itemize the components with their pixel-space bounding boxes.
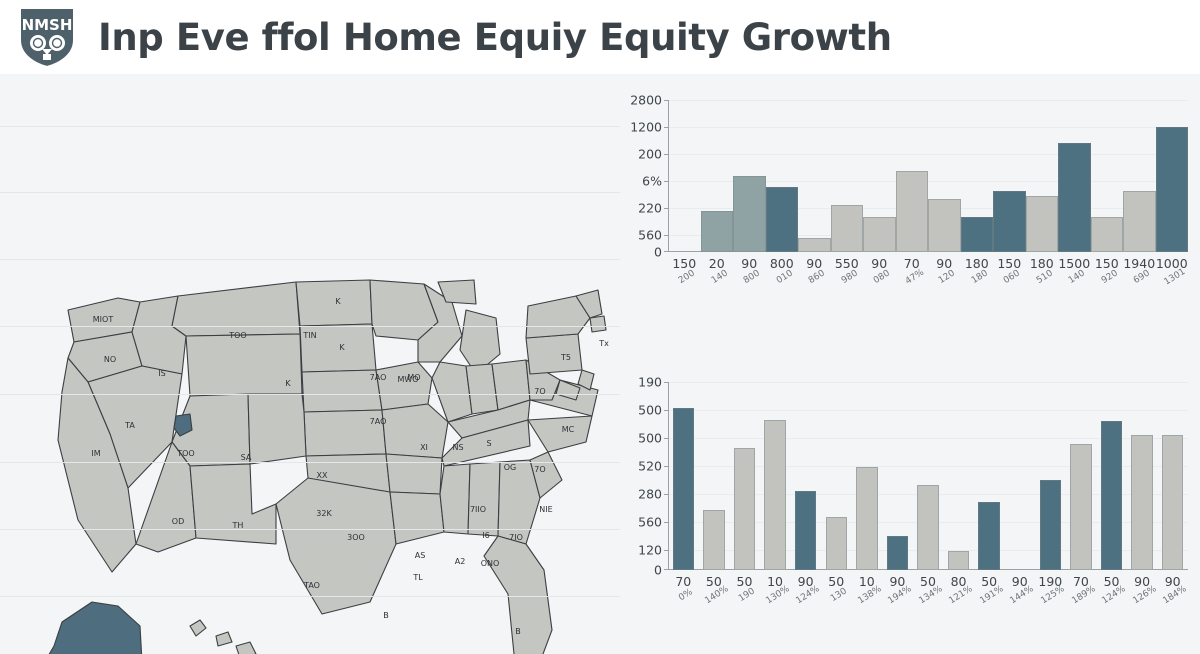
x-tick: 90120	[928, 256, 961, 283]
x-tick: 700%	[668, 574, 699, 601]
state-label: IS	[158, 369, 165, 378]
y-tick-label: 500	[638, 403, 662, 418]
bar[interactable]	[1156, 127, 1189, 252]
us-map-panel[interactable]: MIOT NO IS TOO TIN K K K 7AO TOO TA IM O…	[0, 74, 620, 654]
x-tick: 90800	[733, 256, 766, 283]
y-tick-label: 120	[638, 543, 662, 558]
bar[interactable]	[1040, 480, 1061, 570]
bar[interactable]	[856, 467, 877, 570]
page-title: Inp Eve ffol Home Equiy Equity Growth	[98, 16, 892, 59]
state-label: 7AO	[370, 417, 387, 426]
y-tick-label: 2800	[630, 93, 662, 108]
state-label: NIE	[539, 505, 552, 514]
y-tick-label: 560	[638, 228, 662, 243]
bar[interactable]	[734, 448, 755, 570]
state-label: SA	[241, 453, 252, 462]
state-label: 7O	[534, 387, 545, 396]
state-label: Tx	[598, 339, 609, 348]
x-tick: 90860	[798, 256, 831, 283]
state-label: MIOT	[93, 315, 114, 324]
us-states-map: MIOT NO IS TOO TIN K K K 7AO TOO TA IM O…	[0, 74, 620, 654]
state-label: OG	[504, 463, 517, 472]
x-tick: 90194%	[882, 574, 913, 601]
bottom-chart-y-axis: 190 500 500 520 280 560 120 0	[620, 374, 662, 646]
x-tick: 150060	[993, 256, 1026, 283]
x-tick: 800010	[766, 256, 799, 283]
y-tick-label: 220	[638, 201, 662, 216]
state-label: IM	[91, 449, 100, 458]
bar[interactable]	[1070, 444, 1091, 570]
state-label: XX	[317, 471, 328, 480]
bar[interactable]	[928, 199, 961, 252]
x-tick: 90126%	[1127, 574, 1158, 601]
x-tick: 50191%	[974, 574, 1005, 601]
state-label: TOO	[176, 449, 194, 458]
bar[interactable]	[1162, 435, 1183, 570]
x-tick: 550980	[831, 256, 864, 283]
y-tick-label: 280	[638, 487, 662, 502]
bar[interactable]	[1131, 435, 1152, 570]
dashboard-content: MIOT NO IS TOO TIN K K K 7AO TOO TA IM O…	[0, 74, 1200, 654]
x-tick: 50190	[729, 574, 760, 601]
y-tick-label: 0	[654, 245, 662, 260]
bar[interactable]	[887, 536, 908, 570]
y-tick-label: 200	[638, 147, 662, 162]
state-label: T5	[560, 353, 571, 362]
bottom-chart-axis-area	[668, 382, 1188, 570]
state-label: 7IO	[509, 533, 523, 542]
bottom-chart-plot: 190 500 500 520 280 560 120 0	[620, 374, 1200, 646]
x-tick: 10001301	[1156, 256, 1189, 283]
x-tick: 190125%	[1035, 574, 1066, 601]
top-chart-y-axis: 2800 1200 200 6% 220 560 0	[620, 92, 662, 332]
x-tick: 150200	[668, 256, 701, 283]
bar[interactable]	[978, 502, 999, 570]
x-tick: 90184%	[1157, 574, 1188, 601]
dashboard-page: NMSH Inp Eve ffol Home Equiy Equity Grow…	[0, 0, 1200, 654]
y-tick-label: 1200	[630, 120, 662, 135]
bottom-bar-chart[interactable]: 190 500 500 520 280 560 120 0	[620, 374, 1200, 646]
state-label: 7O	[534, 465, 545, 474]
state-label: TAO	[303, 581, 320, 590]
bar[interactable]	[798, 238, 831, 252]
state-label: B	[515, 627, 521, 636]
state-label: K	[335, 297, 341, 306]
state-label: OD	[172, 517, 184, 526]
x-tick: 70189%	[1066, 574, 1097, 601]
bar[interactable]	[703, 510, 724, 570]
state-alaska-highlight	[40, 602, 142, 654]
state-label: 32K	[316, 509, 332, 518]
y-tick-label: 0	[654, 563, 662, 578]
top-chart-plot: 2800 1200 200 6% 220 560 0	[620, 92, 1200, 332]
x-tick: 1500140	[1058, 256, 1091, 283]
bar[interactable]	[795, 491, 816, 570]
state-label: 7IIO	[470, 505, 486, 514]
nmsh-shield-logo: NMSH	[14, 4, 80, 70]
state-label: TH	[232, 521, 244, 530]
x-tick: 10138%	[852, 574, 883, 601]
bar[interactable]	[1058, 143, 1091, 252]
bar[interactable]	[1091, 217, 1124, 252]
y-tick-label: 500	[638, 431, 662, 446]
bar[interactable]	[896, 171, 929, 252]
bar[interactable]	[733, 176, 766, 252]
bar[interactable]	[701, 211, 734, 252]
state-label: MC	[562, 425, 575, 434]
state-label: 3OO	[347, 533, 365, 542]
x-tick: 50134%	[913, 574, 944, 601]
state-label: K	[285, 379, 291, 388]
state-label: NS	[452, 443, 463, 452]
x-tick: 50140%	[699, 574, 730, 601]
x-tick: 180180	[961, 256, 994, 283]
bar[interactable]	[993, 191, 1026, 252]
y-tick-label: 560	[638, 515, 662, 530]
top-histogram-chart[interactable]: 2800 1200 200 6% 220 560 0	[620, 92, 1200, 332]
state-label: XI	[420, 443, 428, 452]
x-tick: 1940690	[1123, 256, 1156, 283]
state-label: ONO	[481, 559, 500, 568]
state-label: 7AO	[370, 373, 387, 382]
logo-text: NMSH	[22, 16, 73, 34]
bar[interactable]	[826, 517, 847, 570]
state-label: TL	[412, 573, 423, 582]
bar[interactable]	[1101, 421, 1122, 570]
charts-column: 2800 1200 200 6% 220 560 0	[620, 74, 1200, 654]
y-tick-label: 520	[638, 459, 662, 474]
state-label: K	[339, 343, 345, 352]
state-label: AS	[415, 551, 426, 560]
x-tick: 7047%	[896, 256, 929, 283]
bar[interactable]	[1123, 191, 1156, 252]
x-tick: 150920	[1091, 256, 1124, 283]
state-label: NO	[104, 355, 116, 364]
state-label: TOO	[228, 331, 246, 340]
x-tick: 90144%	[1004, 574, 1035, 601]
top-chart-bars[interactable]	[668, 100, 1188, 252]
x-tick: 20140	[701, 256, 734, 283]
bar[interactable]	[961, 217, 994, 252]
state-label: MO	[407, 373, 420, 382]
x-tick: 50124%	[1096, 574, 1127, 601]
bar[interactable]	[917, 485, 938, 570]
bar[interactable]	[863, 217, 896, 252]
state-label: TA	[124, 421, 135, 430]
bar[interactable]	[831, 205, 864, 252]
state-label: TIN	[302, 331, 316, 340]
state-label: I6	[482, 531, 489, 540]
top-chart-axis-area	[668, 100, 1188, 252]
bar[interactable]	[673, 408, 694, 570]
bar[interactable]	[1026, 196, 1059, 252]
bar[interactable]	[764, 420, 785, 570]
x-tick: 80121%	[943, 574, 974, 601]
x-tick: 90080	[863, 256, 896, 283]
state-label: B	[383, 611, 389, 620]
x-tick: 180510	[1026, 256, 1059, 283]
state-label: A2	[455, 557, 466, 566]
state-label: S	[486, 439, 491, 448]
page-header: NMSH Inp Eve ffol Home Equiy Equity Grow…	[0, 0, 1200, 74]
bottom-chart-bars[interactable]	[668, 382, 1188, 570]
x-tick: 10130%	[760, 574, 791, 601]
y-tick-label: 190	[638, 375, 662, 390]
bar[interactable]	[948, 551, 969, 570]
bar[interactable]	[766, 187, 799, 252]
y-tick-label: 6%	[642, 174, 662, 189]
x-tick: 50130	[821, 574, 852, 601]
x-tick: 90124%	[790, 574, 821, 601]
